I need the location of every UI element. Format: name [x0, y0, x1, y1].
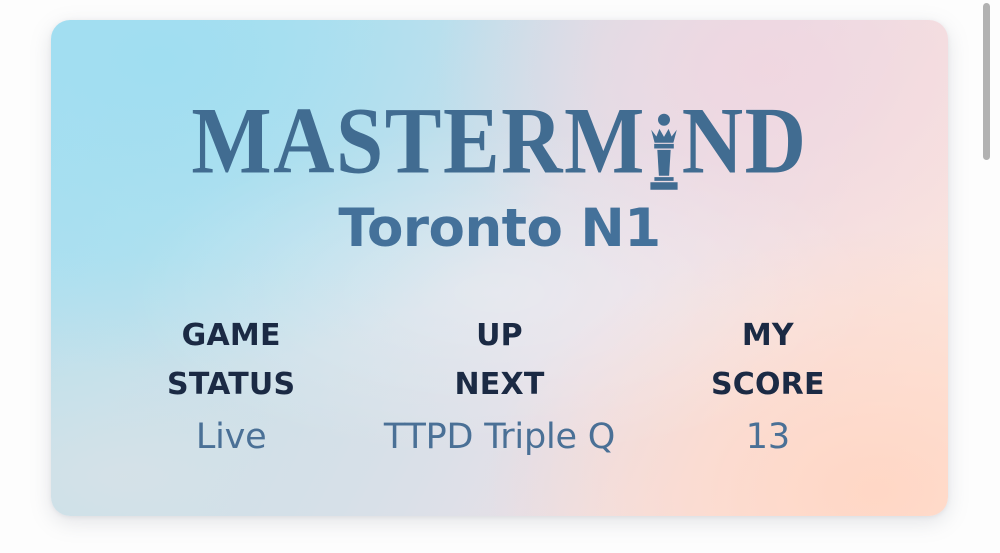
stat-value-game-status: Live — [97, 418, 365, 457]
stat-label-line1: MY — [634, 312, 902, 361]
stat-up-next: UP NEXT TTPD Triple Q — [365, 312, 633, 457]
chess-queen-icon — [647, 112, 681, 190]
chapter-subtitle: Toronto N1 — [51, 202, 948, 255]
page-scrollbar[interactable] — [980, 0, 994, 553]
wordmark-text-after: ND — [682, 96, 808, 187]
brand-block: MASTERM ND Toronto N — [51, 106, 948, 255]
mastermind-wordmark: MASTERM ND — [191, 96, 807, 187]
stat-label-line2: NEXT — [365, 361, 633, 410]
page-scrollbar-thumb[interactable] — [983, 3, 990, 160]
page-background: MASTERM ND Toronto N — [0, 0, 1000, 553]
stat-label-line1: GAME — [97, 312, 365, 361]
stat-label-line2: STATUS — [97, 361, 365, 410]
stat-label-line2: SCORE — [634, 361, 902, 410]
mastermind-game-card: MASTERM ND Toronto N — [51, 20, 948, 516]
stat-game-status: GAME STATUS Live — [97, 312, 365, 457]
stat-value-my-score: 13 — [634, 418, 902, 457]
stat-row: GAME STATUS Live UP NEXT TTPD Triple Q M… — [97, 312, 902, 457]
stat-my-score: MY SCORE 13 — [634, 312, 902, 457]
wordmark-text-before: MASTERM — [191, 96, 645, 187]
stat-value-up-next: TTPD Triple Q — [365, 418, 633, 457]
stat-label-line1: UP — [365, 312, 633, 361]
